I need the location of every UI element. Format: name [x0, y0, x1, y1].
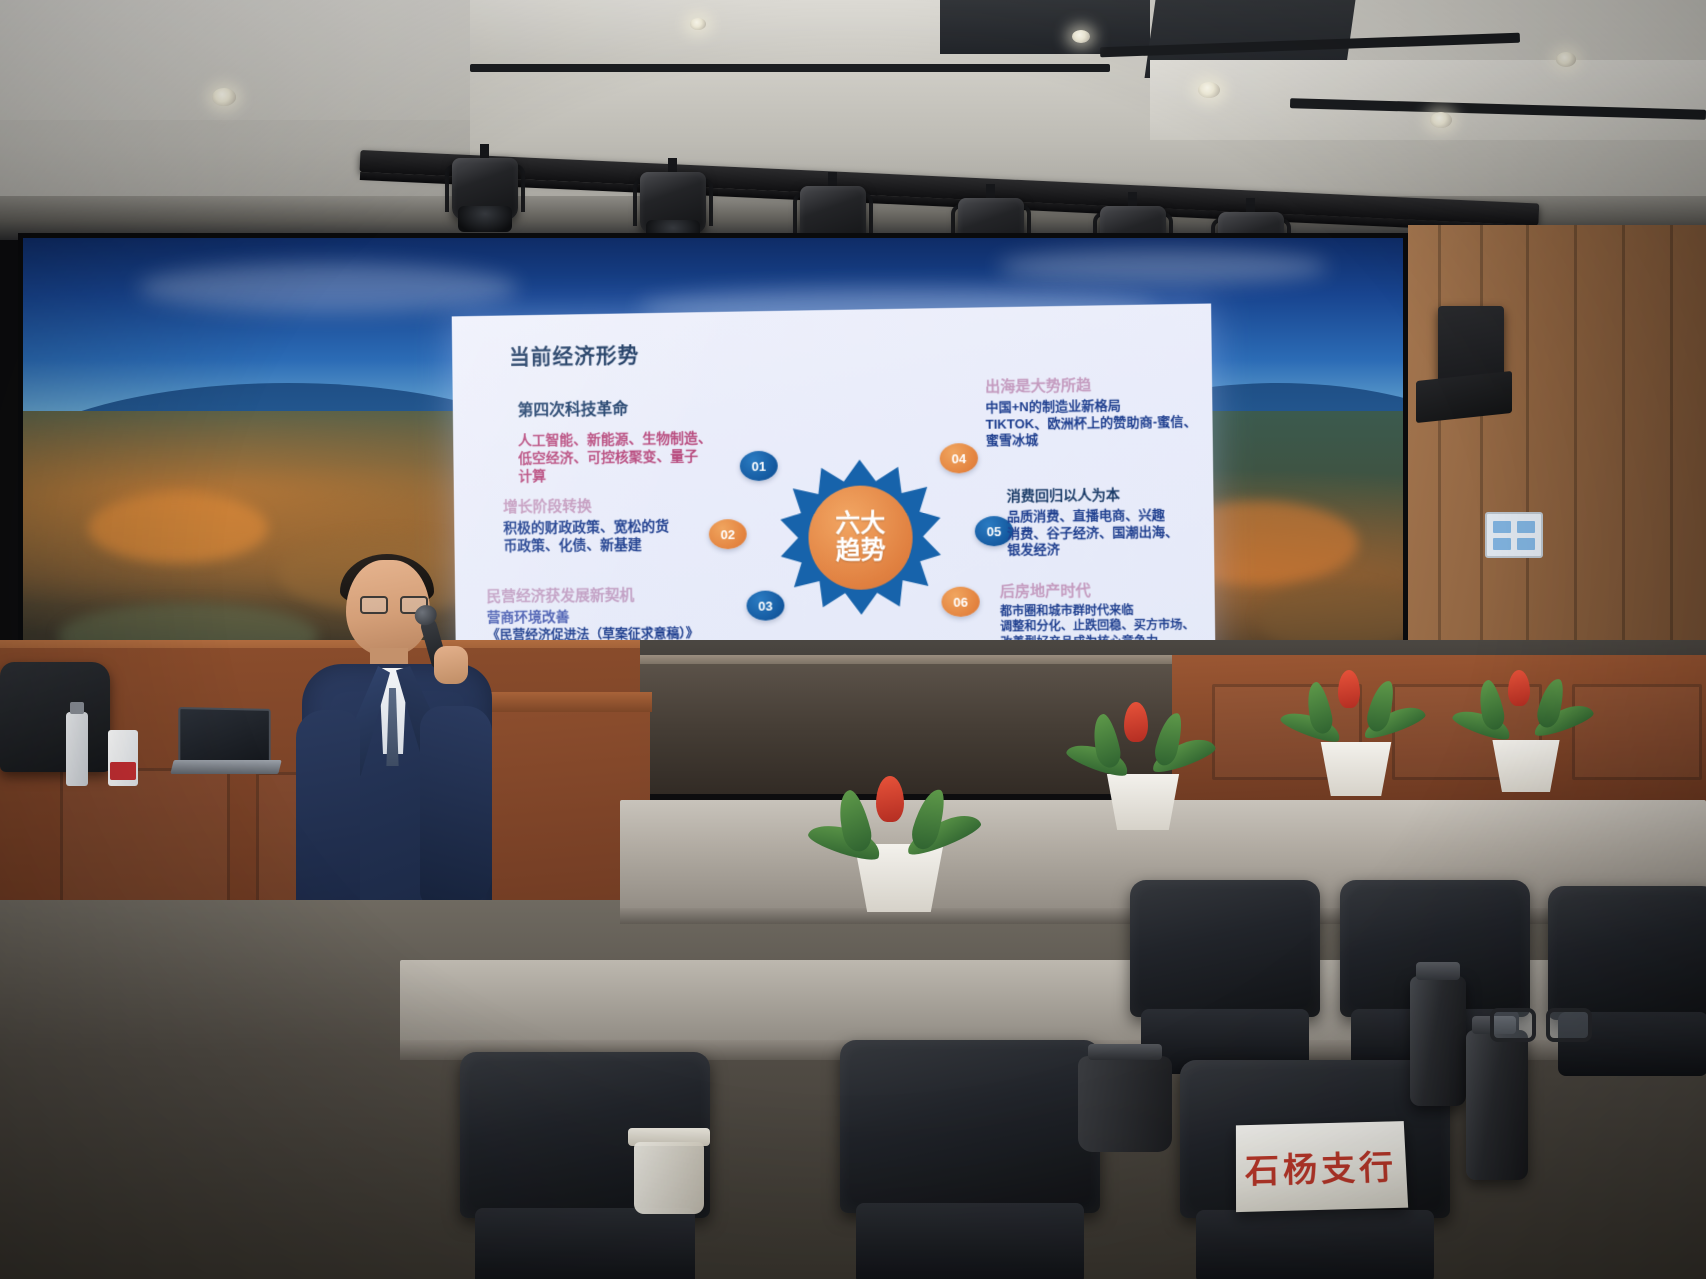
block-line: TIKTOK、欧洲杯上的赞助商-蜜信、	[986, 413, 1216, 433]
thermos-bottle[interactable]	[1466, 1030, 1528, 1180]
water-bottle[interactable]	[66, 712, 88, 786]
potted-plant	[1060, 700, 1220, 830]
wall-control-panel[interactable]	[1485, 512, 1543, 558]
downlight	[1556, 52, 1576, 67]
block-heading: 后房地产时代	[1000, 578, 1216, 602]
thermos-bottle[interactable]	[1410, 976, 1466, 1106]
block-line: 币政策、化债、新基建	[503, 535, 731, 555]
block-line: 调整和分化、止跌回稳、买方市场、	[1000, 618, 1216, 636]
downlight	[1430, 112, 1452, 128]
laptop-keyboard[interactable]	[170, 760, 281, 774]
slide-node-06: 06	[941, 587, 980, 617]
downlight	[690, 18, 706, 30]
block-heading: 出海是大势所趋	[985, 372, 1216, 397]
slide-block-01: 第四次科技革命 人工智能、新能源、生物制造、 低空经济、可控核聚变、量子 计算	[517, 393, 756, 486]
slide-node-04: 04	[940, 443, 979, 474]
presentation-slide: 当前经济形势 六大 趋势 01 02 03 04 05 06 第四次科技革命 人…	[452, 303, 1216, 687]
block-heading: 第四次科技革命	[517, 393, 755, 420]
hand-sanitizer-bottle[interactable]	[108, 730, 138, 786]
presenter-arm-right	[420, 706, 492, 906]
conference-chair[interactable]	[840, 1040, 1100, 1279]
hub-label: 六大 趋势	[808, 485, 913, 590]
block-line: 蜜雪冰城	[986, 430, 1216, 450]
teapot[interactable]	[1078, 1056, 1172, 1152]
slide-center-hub: 六大 趋势	[780, 459, 942, 616]
drinking-cup[interactable]	[634, 1142, 704, 1214]
slide-block-04: 出海是大势所趋 中国+N的制造业新格局 TIKTOK、欧洲杯上的赞助商-蜜信、 …	[985, 372, 1216, 450]
laptop-screen[interactable]	[178, 707, 270, 767]
block-heading: 增长阶段转换	[503, 493, 731, 517]
presenter-hand	[434, 646, 468, 684]
block-heading: 民营经济获发展新契机	[486, 583, 773, 607]
executive-chair[interactable]	[0, 662, 110, 772]
downlight	[212, 88, 236, 106]
downlight	[1198, 82, 1220, 98]
conference-chair[interactable]	[1130, 880, 1320, 1070]
potted-plant	[800, 772, 980, 912]
slide-block-05: 消费回归以人为本 品质消费、直播电商、兴趣 消费、谷子经济、国潮出海、 银发经济	[1007, 483, 1216, 559]
downlight	[1072, 30, 1090, 43]
block-heading: 消费回归以人为本	[1007, 483, 1216, 506]
slide-title: 当前经济形势	[509, 339, 640, 371]
name-plate: 石杨支行	[1236, 1121, 1408, 1212]
acoustic-wall-panel	[1408, 225, 1706, 695]
conference-hall-scene: 当前经济形势 六大 趋势 01 02 03 04 05 06 第四次科技革命 人…	[0, 0, 1706, 1279]
potted-plant	[1450, 670, 1600, 792]
block-line: 银发经济	[1007, 540, 1216, 559]
slide-block-02: 增长阶段转换 积极的财政政策、宽松的货 币政策、化债、新基建	[503, 493, 731, 555]
name-plate-text: 石杨支行	[1245, 1140, 1398, 1192]
block-line: 计算	[518, 465, 756, 486]
potted-plant	[1276, 670, 1432, 796]
eyeglasses-on-table[interactable]	[1490, 998, 1600, 1052]
